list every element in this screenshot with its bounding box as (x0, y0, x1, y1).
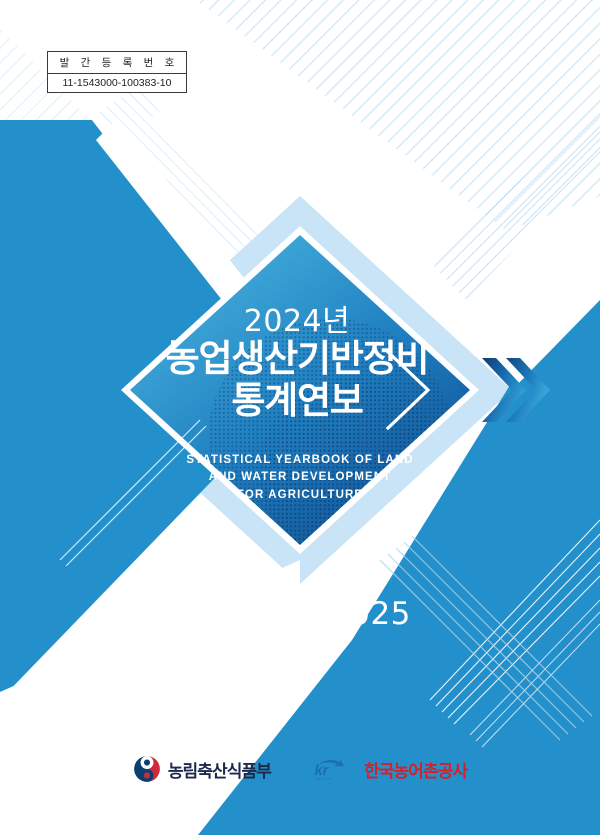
registration-number: 11-1543000-100383-10 (48, 74, 186, 92)
logo-bar: 농림축산식품부 kr Rural & Green 한국농어촌공사 (0, 748, 600, 790)
logo-mafra-label: 농림축산식품부 (168, 757, 271, 782)
kr-swoosh-icon: kr Rural & Green (313, 755, 357, 783)
book-cover: 발 간 등 록 번 호 11-1543000-100383-10 2024년 농… (0, 0, 600, 835)
logo-krc-label: 한국농어촌공사 (364, 757, 467, 782)
logo-mafra: 농림축산식품부 (133, 755, 271, 783)
taegeuk-icon (133, 755, 161, 783)
registration-label: 발 간 등 록 번 호 (48, 52, 186, 74)
logo-krc: kr Rural & Green 한국농어촌공사 (313, 755, 467, 783)
cover-background-graphics (0, 0, 600, 835)
registration-number-box: 발 간 등 록 번 호 11-1543000-100383-10 (47, 51, 187, 93)
svg-text:kr: kr (314, 763, 329, 779)
publication-year: 2025 (330, 596, 411, 632)
